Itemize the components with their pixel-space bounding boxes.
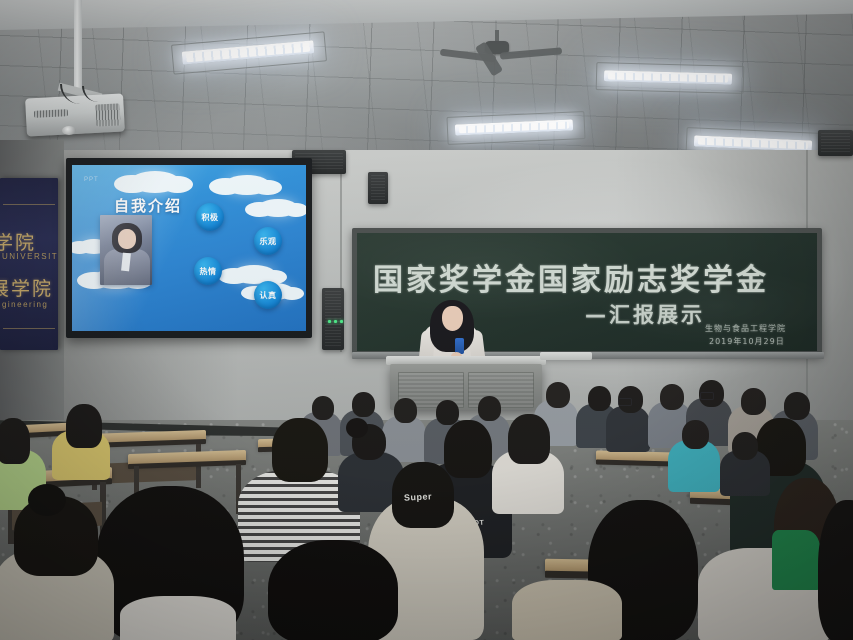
- wall-mounted-unit: [368, 172, 388, 204]
- slide-logo: PPT: [84, 177, 99, 183]
- status-led-1: [328, 320, 331, 323]
- wall-banner: 学院 UNIVERSITY 展学院 ngineering: [0, 178, 58, 350]
- classroom-photo: 学院 UNIVERSITY 展学院 ngineering PPT 自我介绍 积极…: [0, 0, 853, 640]
- blackboard-main-text: 国家奖学金国家励志奖学金: [373, 255, 769, 299]
- projector-vent: [95, 103, 120, 126]
- shirt-brand: Super: [404, 491, 433, 502]
- banner-en-top: UNIVERSITY: [2, 252, 58, 261]
- slide-badge-1: 积极: [196, 203, 224, 231]
- presenter-face: [442, 306, 463, 331]
- side-table: [540, 352, 592, 360]
- banner-en-bottom: ngineering: [0, 300, 48, 309]
- projector-lens: [62, 126, 76, 135]
- av-control-box[interactable]: [322, 288, 344, 350]
- slide-cloud-2: [224, 175, 270, 195]
- projection-screen: PPT 自我介绍 积极 乐观 热情 认真: [72, 165, 306, 331]
- slide-cloud-3: [258, 199, 298, 217]
- slide-cloud-1: [130, 171, 180, 193]
- banner-cn-top: 学院: [0, 228, 36, 255]
- ceiling-light-frame-3: [596, 62, 745, 94]
- slide-portrait: [100, 215, 152, 285]
- slide-badge-3: 热情: [194, 257, 222, 285]
- status-led-3: [340, 320, 343, 323]
- wall-speaker-right: [818, 130, 853, 156]
- slide-badge-4: 认真: [254, 281, 282, 309]
- banner-cn-bottom: 展学院: [0, 274, 53, 301]
- slide-title: 自我介绍: [114, 195, 182, 216]
- projector-mount-pole: [74, 0, 82, 92]
- blackboard-sub-text: —汇报展示: [585, 299, 705, 329]
- status-led-2: [334, 320, 337, 323]
- slide-badge-2: 乐观: [254, 227, 282, 255]
- blackboard-date: 2019年10月29日: [709, 336, 785, 347]
- blackboard-department: 生物与食品工程学院: [705, 323, 786, 334]
